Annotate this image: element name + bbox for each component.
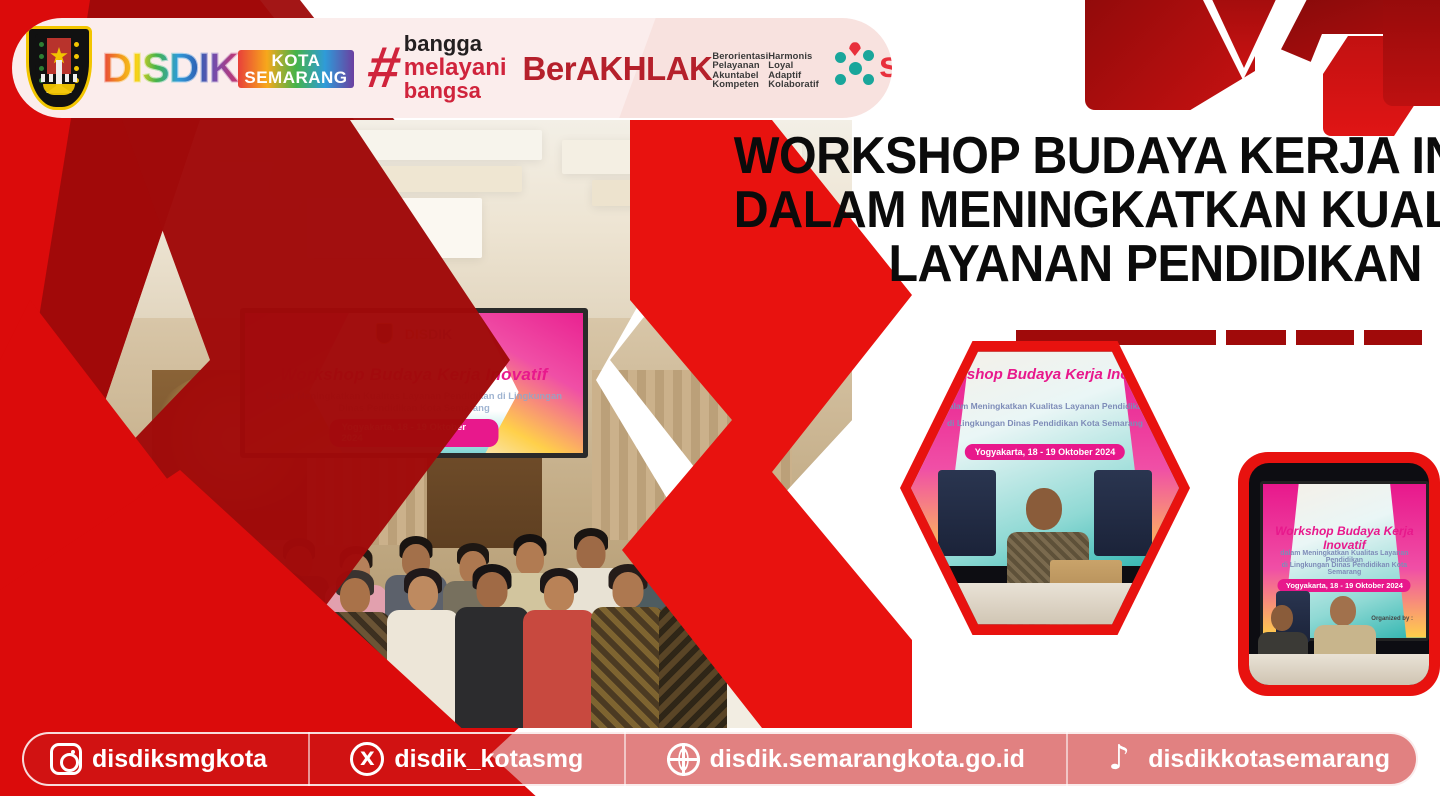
speaker-head — [1026, 488, 1062, 530]
footer-tiktok[interactable]: ♪ disdikkotasemarang — [1108, 742, 1390, 776]
bangga-line3: bangsa — [404, 80, 507, 103]
footer-instagram[interactable]: disdiksmgkota — [50, 743, 267, 775]
hex-backdrop-sub2: di Lingkungan Dinas Pendidikan Kota Sema… — [927, 418, 1163, 428]
footer-website[interactable]: disdik.semarangkota.go.id — [667, 743, 1025, 776]
map-pin-icon — [849, 42, 861, 56]
globe-icon — [667, 743, 700, 776]
x-handle: disdik_kotasmg — [394, 745, 583, 774]
footer-x[interactable]: X disdik_kotasmg — [350, 742, 583, 776]
disdik-wordmark: DISDIK — [102, 47, 238, 89]
rect-backdrop-sub2: di Lingkungan Dinas Pendidikan Kota Sema… — [1273, 562, 1417, 576]
semarang-wordmark: semarang — [879, 47, 892, 82]
portrait-right — [1094, 470, 1152, 556]
disdik-logo: DISDIK KOTA SEMARANG — [102, 47, 354, 89]
berakhlak-tagline-1: Berorientasi Pelayanan Akuntabel Kompete… — [712, 51, 768, 89]
title-line-1: WORKSHOP BUDAYA KERJA INOVATIF — [734, 132, 1422, 182]
hash-icon: # — [364, 42, 404, 94]
title-line-2: DALAM MENINGKATKAN KUALITAS — [734, 186, 1422, 236]
rect-backdrop-heading: Workshop Budaya Kerja Inovatif — [1273, 524, 1417, 552]
title-line-3: LAYANAN PENDIDIKAN — [734, 240, 1422, 290]
rect-backdrop-date: Yogyakarta, 18 - 19 Oktober 2024 — [1278, 579, 1411, 592]
hex-photo-speaker: Workshop Budaya Kerja Inovatif Dalam Men… — [900, 338, 1190, 638]
x-twitter-icon: X — [350, 742, 384, 776]
berakhlak-title: BerAKHLAK — [523, 52, 713, 85]
hex-backdrop-date: Yogyakarta, 18 - 19 Oktober 2024 — [965, 444, 1125, 460]
bottom-white-strip — [0, 796, 1440, 810]
hex-backdrop-sub1: Dalam Meningkatkan Kualitas Layanan Pend… — [927, 401, 1163, 411]
instagram-icon — [50, 743, 82, 775]
semarang-city-brand-logo: semarang simpul ekonomi jawa — [835, 47, 892, 89]
tiktok-handle: disdikkotasemarang — [1148, 745, 1390, 774]
bangga-line2: melayani — [404, 56, 507, 81]
footer-divider-1 — [308, 732, 310, 786]
panelist-1-head — [1271, 605, 1293, 631]
instagram-handle: disdiksmgkota — [92, 745, 267, 774]
tiktok-icon: ♪ — [1108, 742, 1138, 776]
bangga-line1: bangga — [404, 33, 507, 56]
social-media-bar: disdiksmgkota X disdik_kotasmg disdik.se… — [22, 732, 1418, 786]
molecule-icon — [835, 48, 875, 88]
header-logo-bar: DISDIK KOTA SEMARANG # bangga melayani b… — [12, 18, 892, 118]
berakhlak-logo: BerAKHLAK Berorientasi Pelayanan Akuntab… — [523, 48, 819, 89]
footer-divider-3 — [1066, 732, 1068, 786]
website-url: disdik.semarangkota.go.id — [710, 745, 1025, 774]
portrait-left — [938, 470, 996, 556]
rect-photo-panel: Workshop Budaya Kerja Inovatif dalam Men… — [1238, 452, 1440, 696]
rect-photo-scene: Workshop Budaya Kerja Inovatif dalam Men… — [1249, 463, 1429, 685]
disdik-subtitle: KOTA SEMARANG — [238, 50, 353, 88]
footer-divider-2 — [624, 732, 626, 786]
berakhlak-tagline-2: Harmonis Loyal Adaptif Kolaboratif — [768, 51, 819, 89]
poster-canvas: DISDIK Workshop Budaya Kerja Inovatif Da… — [0, 0, 1440, 810]
bangga-melayani-bangsa-logo: # bangga melayani bangsa — [368, 33, 507, 104]
poster-title: WORKSHOP BUDAYA KERJA INOVATIF DALAM MEN… — [682, 132, 1422, 290]
rect-organized-by: Organized by : — [1353, 616, 1413, 622]
coat-of-arms — [26, 26, 92, 110]
panelist-2-head — [1330, 596, 1356, 626]
